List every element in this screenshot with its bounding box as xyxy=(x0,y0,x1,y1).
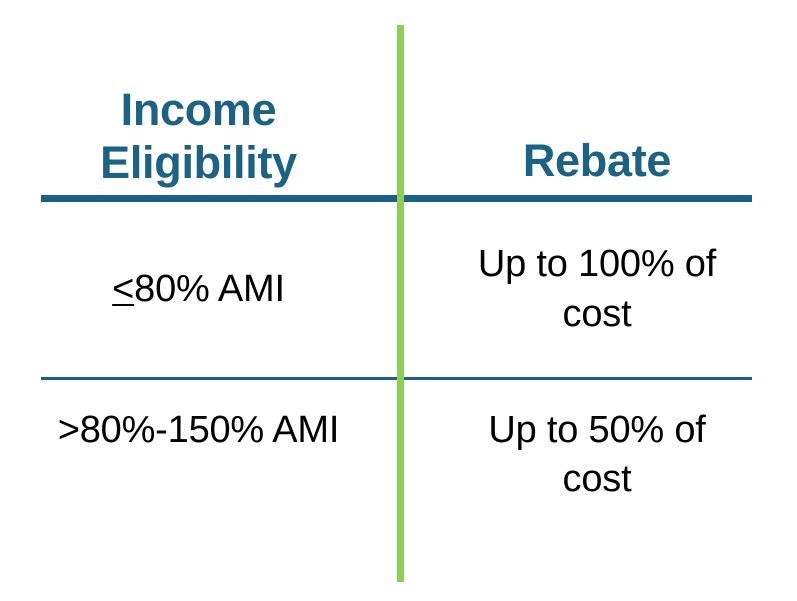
cell-rebate-tier-1: Up to 100% of cost xyxy=(397,202,797,377)
cell-rebate-tier-2-text: Up to 50% of cost xyxy=(453,406,741,505)
cell-rebate-tier-2: Up to 50% of cost xyxy=(397,380,797,580)
column-header-rebate: Rebate xyxy=(397,20,797,195)
column-header-income-eligibility: Income Eligibility xyxy=(0,20,397,195)
less-than-or-equal-glyph: < xyxy=(112,268,134,310)
cell-income-eligibility-tier-1-value: 80% AMI xyxy=(134,268,285,310)
cell-rebate-tier-1-text: Up to 100% of cost xyxy=(453,240,741,339)
column-divider-rule xyxy=(397,25,404,582)
column-header-rebate-label: Rebate xyxy=(523,134,671,189)
cell-income-eligibility-tier-1-text: <80% AMI xyxy=(112,265,285,314)
cell-income-eligibility-tier-1: <80% AMI xyxy=(0,202,397,377)
cell-income-eligibility-tier-2: >80%-150% AMI xyxy=(0,380,397,580)
cell-income-eligibility-tier-2-text: >80%-150% AMI xyxy=(58,406,340,455)
rebate-eligibility-table: Income Eligibility Rebate <80% AMI Up to… xyxy=(0,0,797,601)
column-header-income-eligibility-label: Income Eligibility xyxy=(28,83,369,189)
